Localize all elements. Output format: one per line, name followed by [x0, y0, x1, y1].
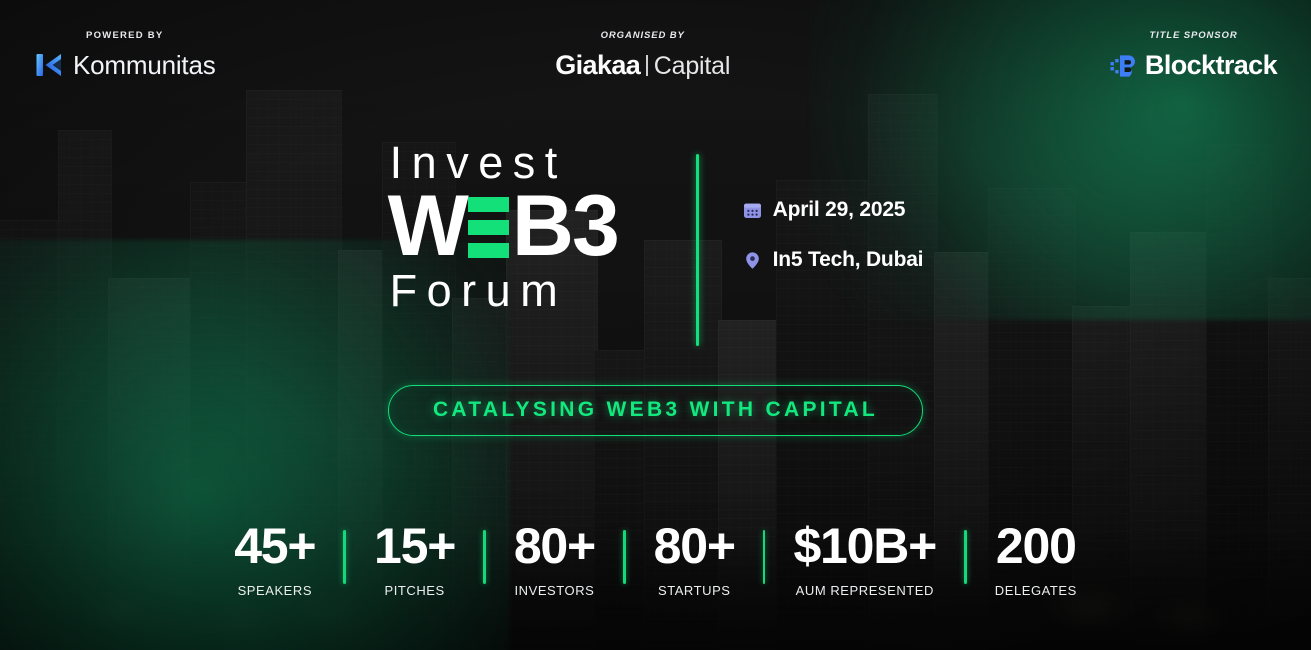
- hero-section: Invest W B3 Forum: [0, 140, 1311, 346]
- partner-organised-by: ORGANISED BY Giakaa Capital: [555, 30, 730, 81]
- blocktrack-wordmark: Blocktrack: [1145, 50, 1277, 81]
- event-details: April 29, 2025 In5 Tech, Dubai: [743, 198, 924, 272]
- stat-divider: [623, 530, 626, 584]
- event-banner: POWERED BY: [0, 0, 1311, 650]
- blocktrack-logo: Blocktrack: [1110, 50, 1277, 81]
- wordmark-e-bars-icon: [468, 195, 509, 258]
- event-date: April 29, 2025: [773, 198, 906, 222]
- calendar-icon: [743, 201, 762, 220]
- giakaa-divider: [646, 55, 648, 76]
- powered-by-kicker: POWERED BY: [86, 30, 163, 41]
- stat-label: SPEAKERS: [238, 583, 312, 598]
- stat-label: INVESTORS: [515, 583, 595, 598]
- event-location: In5 Tech, Dubai: [773, 248, 924, 272]
- stat-value: $10B+: [793, 521, 936, 571]
- stat-item: 80+INVESTORS: [488, 521, 621, 598]
- stat-divider: [483, 530, 486, 584]
- invest-web3-forum-wordmark: Invest W B3 Forum: [388, 140, 656, 313]
- stat-value: 80+: [514, 521, 595, 571]
- stat-label: PITCHES: [385, 583, 445, 598]
- giakaa-capital-logo: Giakaa Capital: [555, 50, 730, 81]
- event-date-row: April 29, 2025: [743, 198, 924, 222]
- capital-wordmark: Capital: [654, 52, 730, 81]
- wordmark-w: W: [388, 187, 467, 266]
- stat-divider: [964, 530, 967, 584]
- stat-item: $10B+AUM REPRESENTED: [767, 521, 962, 598]
- blocktrack-b-logo-icon: [1110, 52, 1138, 80]
- kommunitas-logo: Kommunitas: [34, 50, 216, 80]
- tagline-pill: CATALYSING WEB3 WITH CAPITAL: [388, 385, 923, 436]
- stat-item: 45+SPEAKERS: [208, 521, 341, 598]
- wordmark-line-forum: Forum: [390, 268, 568, 313]
- stat-value: 45+: [234, 521, 315, 571]
- stat-divider: [343, 530, 346, 584]
- stat-item: 80+STARTUPS: [628, 521, 761, 598]
- stat-label: DELEGATES: [995, 583, 1077, 598]
- kommunitas-wordmark: Kommunitas: [73, 52, 216, 78]
- stat-item: 15+PITCHES: [348, 521, 481, 598]
- partner-logo-bar: POWERED BY: [0, 0, 1311, 108]
- giakaa-wordmark: Giakaa: [555, 50, 640, 81]
- partner-title-sponsor: TITLE SPONSOR Blocktrack: [1110, 30, 1277, 81]
- stat-divider: [763, 530, 766, 584]
- stat-item: 200DELEGATES: [969, 521, 1103, 598]
- wordmark-line-web3: W B3: [388, 187, 618, 266]
- partner-powered-by: POWERED BY: [34, 30, 216, 80]
- stat-label: AUM REPRESENTED: [796, 583, 934, 598]
- stats-row: 45+SPEAKERS15+PITCHES80+INVESTORS80+STAR…: [0, 521, 1311, 598]
- map-pin-icon: [743, 251, 762, 270]
- tagline-container: CATALYSING WEB3 WITH CAPITAL: [0, 385, 1311, 436]
- title-sponsor-kicker: TITLE SPONSOR: [1149, 30, 1237, 41]
- stat-value: 200: [996, 521, 1076, 571]
- organised-by-kicker: ORGANISED BY: [601, 30, 685, 41]
- kommunitas-k-logo-icon: [34, 50, 64, 80]
- stat-value: 15+: [374, 521, 455, 571]
- hero-vertical-divider: [696, 154, 699, 346]
- event-location-row: In5 Tech, Dubai: [743, 248, 924, 272]
- stat-label: STARTUPS: [658, 583, 731, 598]
- wordmark-b3: B3: [512, 187, 618, 266]
- stat-value: 80+: [654, 521, 735, 571]
